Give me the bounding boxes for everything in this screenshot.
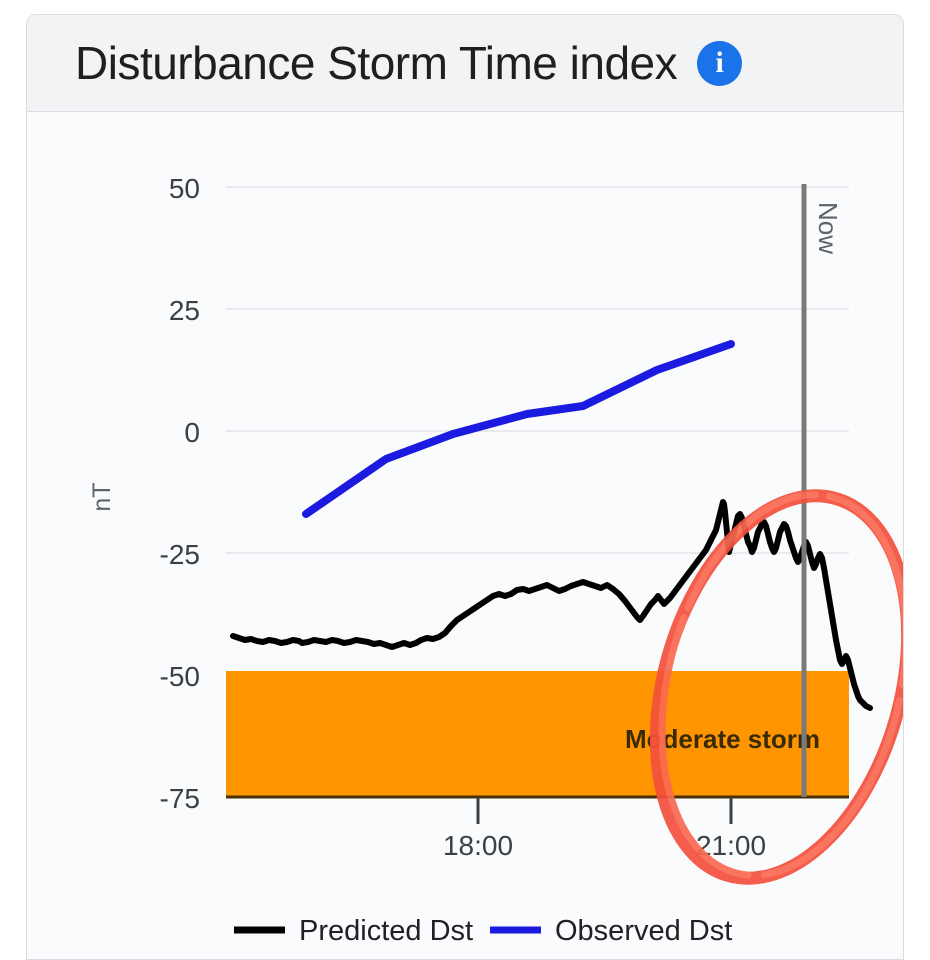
dst-index-card: Disturbance Storm Time index i	[26, 14, 904, 960]
y-tick-label: 50	[169, 173, 200, 204]
dst-chart: 50 25 0 -25 -50 -75 nT 18:00 21:00 Moder…	[27, 112, 904, 960]
card-header: Disturbance Storm Time index i	[27, 15, 903, 112]
y-tick-label: -50	[160, 661, 200, 692]
y-axis-title: nT	[88, 482, 116, 511]
info-icon[interactable]: i	[697, 41, 742, 86]
screenshot-root: Disturbance Storm Time index i	[0, 0, 930, 960]
y-tick-label: -75	[160, 783, 200, 814]
x-tick-label: 18:00	[443, 830, 513, 861]
now-marker-label: Now	[813, 202, 843, 254]
y-tick-label: 0	[184, 417, 200, 448]
y-tick-label: -25	[160, 539, 200, 570]
legend-label-predicted: Predicted Dst	[299, 915, 473, 947]
card-body: 50 25 0 -25 -50 -75 nT 18:00 21:00 Moder…	[27, 112, 903, 959]
page-title: Disturbance Storm Time index	[75, 40, 677, 86]
y-tick-label: 25	[169, 295, 200, 326]
legend-label-observed: Observed Dst	[555, 915, 732, 947]
